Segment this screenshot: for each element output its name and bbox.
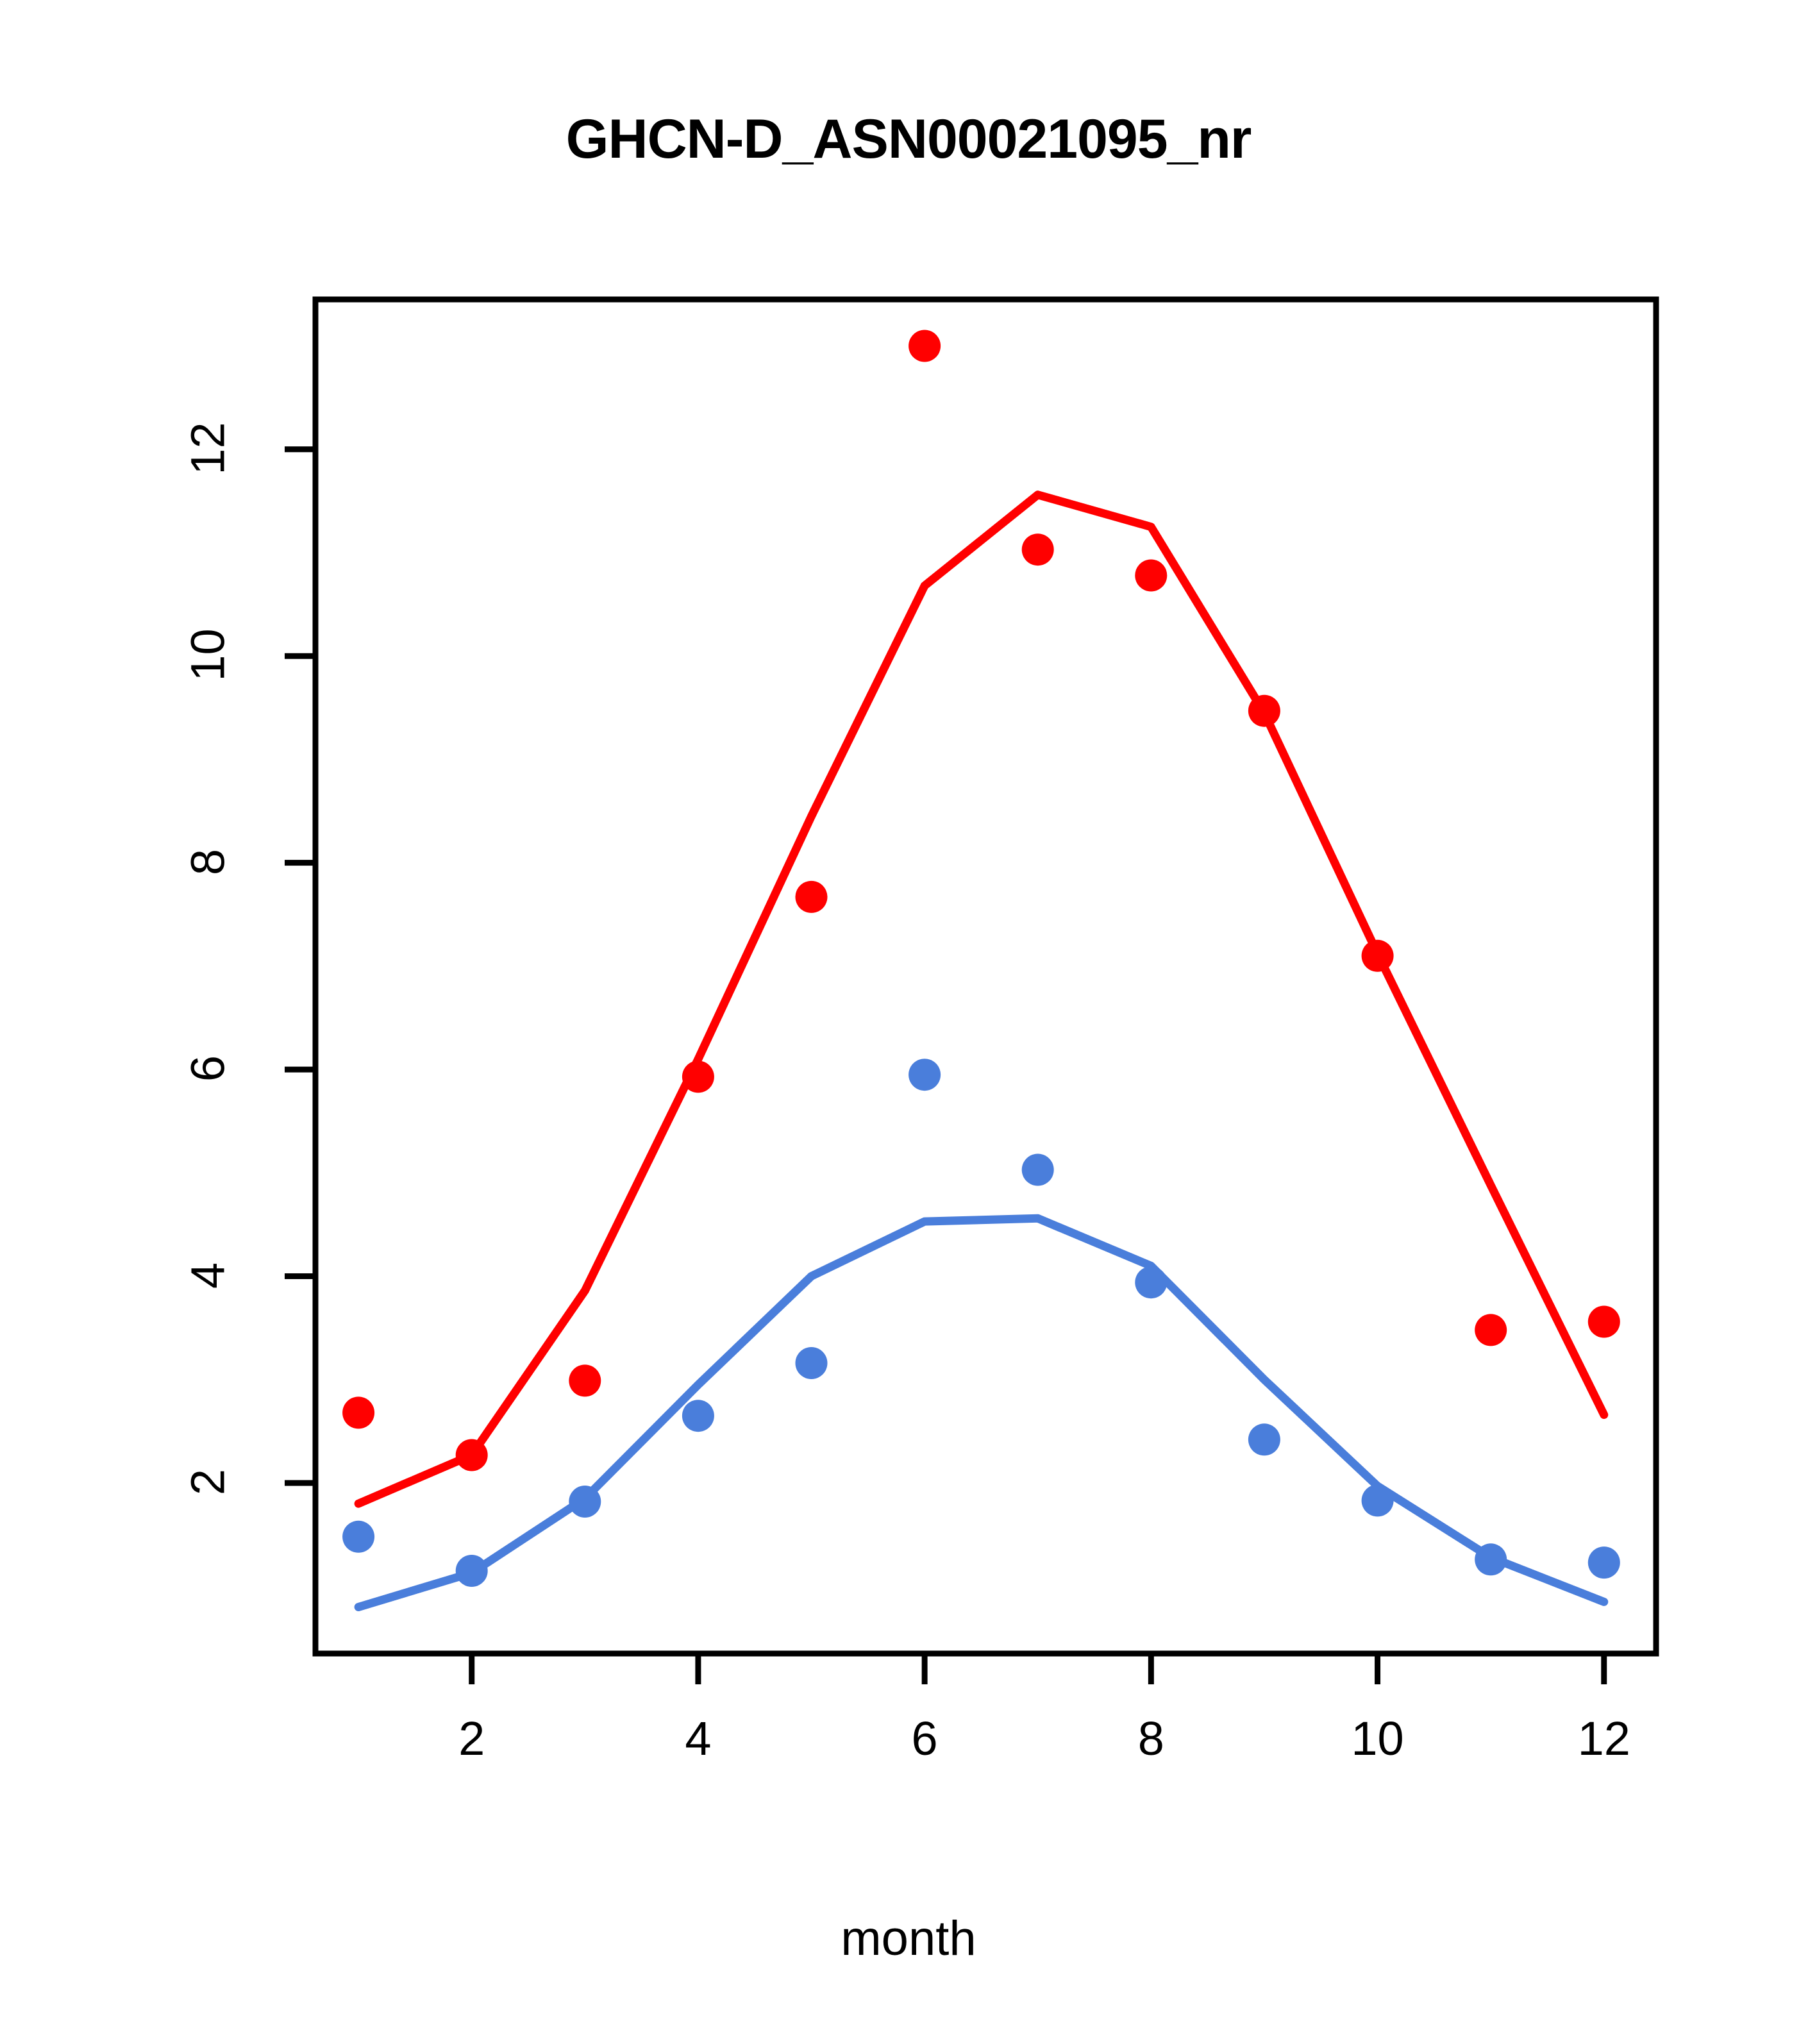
data-point-observed-red — [1475, 1314, 1507, 1346]
data-point-observed-blue — [1475, 1543, 1507, 1575]
data-point-observed-red — [1588, 1306, 1620, 1338]
x-tick-label: 4 — [621, 1711, 775, 1766]
x-tick-label: 10 — [1301, 1711, 1455, 1766]
data-point-observed-blue — [1588, 1546, 1620, 1579]
y-axis-ticks — [285, 449, 315, 1483]
data-point-observed-red — [1135, 560, 1167, 592]
data-point-observed-red — [569, 1364, 601, 1396]
data-point-observed-red — [796, 881, 828, 913]
y-tick-label: 8 — [181, 810, 235, 913]
data-point-observed-red — [908, 330, 941, 362]
data-point-observed-red — [1362, 940, 1394, 972]
x-axis-ticks — [472, 1654, 1604, 1684]
x-tick-label: 8 — [1074, 1711, 1228, 1766]
x-tick-label: 12 — [1527, 1711, 1681, 1766]
y-tick-label: 10 — [181, 604, 235, 707]
x-axis-title: month — [0, 1911, 1817, 1966]
data-point-observed-blue — [569, 1486, 601, 1518]
data-point-observed-blue — [1135, 1266, 1167, 1298]
y-tick-label: 2 — [181, 1430, 235, 1533]
data-point-observed-red — [456, 1439, 488, 1471]
x-tick-label: 2 — [395, 1711, 549, 1766]
data-point-observed-blue — [1248, 1423, 1280, 1455]
data-point-observed-blue — [796, 1347, 828, 1379]
y-tick-label: 6 — [181, 1018, 235, 1120]
data-point-observed-blue — [456, 1555, 488, 1587]
series-line-fitted-blue — [358, 1218, 1604, 1607]
data-point-observed-blue — [908, 1059, 941, 1091]
x-tick-label: 6 — [848, 1711, 1001, 1766]
series-lines — [358, 495, 1604, 1607]
data-point-observed-blue — [1362, 1484, 1394, 1516]
series-points — [342, 330, 1620, 1587]
data-point-observed-blue — [1022, 1154, 1054, 1186]
data-point-observed-red — [682, 1060, 714, 1093]
series-line-fitted-red — [358, 495, 1604, 1504]
data-point-observed-red — [1248, 695, 1280, 727]
data-point-observed-blue — [342, 1521, 374, 1553]
y-tick-label: 12 — [181, 397, 235, 499]
axis-group — [285, 299, 1656, 1684]
data-point-observed-blue — [682, 1400, 714, 1432]
y-tick-label: 4 — [181, 1224, 235, 1327]
data-point-observed-red — [342, 1396, 374, 1428]
plot-border — [315, 299, 1656, 1654]
chart-page: GHCN-D_ASN00021095_nr 24681012 24681012 … — [0, 0, 1817, 2044]
data-point-observed-red — [1022, 533, 1054, 565]
